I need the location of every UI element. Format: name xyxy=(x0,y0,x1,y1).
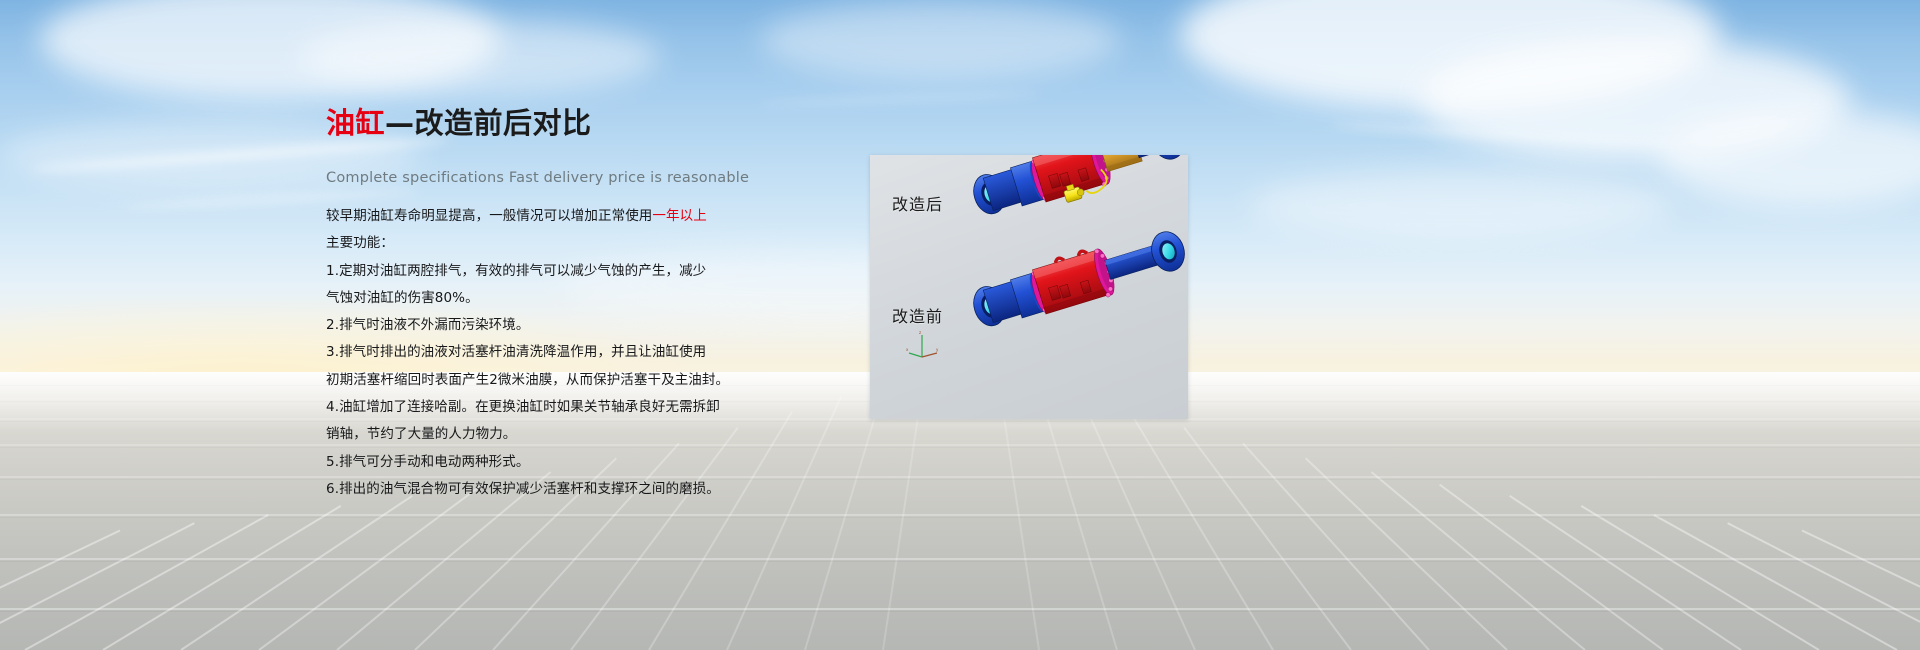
body-line: 5.排气可分手动和电动两种形式。 xyxy=(326,449,756,476)
body-line-text: 气蚀对油缸的伤害80%。 xyxy=(326,290,479,306)
body-line-text: 初期活塞杆缩回时表面产生2微米油膜，从而保护活塞干及主油封。 xyxy=(326,372,729,388)
body-text-block: 较早期油缸寿命明显提高，一般情况可以增加正常使用一年以上主要功能：1.定期对油缸… xyxy=(326,203,756,503)
front-eye-after xyxy=(1147,155,1188,163)
body-line-text: 主要功能： xyxy=(326,235,394,251)
cylinder-before xyxy=(967,222,1188,335)
body-line-highlight: 一年以上 xyxy=(652,208,706,224)
svg-text:x: x xyxy=(906,347,909,352)
body-line-text: 销轴，节约了大量的人力物力。 xyxy=(326,426,516,442)
label-before-modification: 改造前 xyxy=(892,303,943,327)
front-eye-before xyxy=(1147,228,1188,276)
title-rest: —改造前后对比 xyxy=(385,106,592,140)
title-highlight: 油缸 xyxy=(326,106,385,140)
body-line: 气蚀对油缸的伤害80%。 xyxy=(326,285,756,312)
body-line: 1.定期对油缸两腔排气，有效的排气可以减少气蚀的产生，减少 xyxy=(326,258,756,285)
cad-comparison-panel: 改造后 改造前 z x y xyxy=(870,155,1188,419)
label-after-modification: 改造后 xyxy=(892,191,943,215)
banner-content: 油缸—改造前后对比 Complete specifications Fast d… xyxy=(0,0,1920,650)
body-line-text: 1.定期对油缸两腔排气，有效的排气可以减少气蚀的产生，减少 xyxy=(326,263,706,279)
body-line-text: 6.排出的油气混合物可有效保护减少活塞杆和支撑环之间的磨损。 xyxy=(326,481,720,497)
svg-text:y: y xyxy=(936,347,939,352)
svg-text:z: z xyxy=(919,331,921,335)
axis-gizmo-icon: z x y xyxy=(906,331,940,361)
body-line: 销轴，节约了大量的人力物力。 xyxy=(326,421,756,448)
body-line-text: 5.排气可分手动和电动两种形式。 xyxy=(326,454,529,470)
body-line: 3.排气时排出的油液对活塞杆油清洗降温作用，并且让油缸使用 xyxy=(326,339,756,366)
body-line-text: 3.排气时排出的油液对活塞杆油清洗降温作用，并且让油缸使用 xyxy=(326,344,706,360)
body-line-text: 较早期油缸寿命明显提高，一般情况可以增加正常使用 xyxy=(326,208,652,224)
cylinder-after xyxy=(963,155,1188,228)
body-line: 6.排出的油气混合物可有效保护减少活塞杆和支撑环之间的磨损。 xyxy=(326,476,756,503)
body-line: 主要功能： xyxy=(326,230,756,257)
body-line: 较早期油缸寿命明显提高，一般情况可以增加正常使用一年以上 xyxy=(326,203,756,230)
page-title: 油缸—改造前后对比 xyxy=(326,108,592,140)
body-line: 4.油缸增加了连接哈副。在更换油缸时如果关节轴承良好无需拆卸 xyxy=(326,394,756,421)
page-subtitle: Complete specifications Fast delivery pr… xyxy=(326,170,749,186)
body-line: 2.排气时油液不外漏而污染环境。 xyxy=(326,312,756,339)
title-line: 油缸—改造前后对比 xyxy=(326,108,592,140)
body-line-text: 2.排气时油液不外漏而污染环境。 xyxy=(326,317,529,333)
banner-stage: 油缸—改造前后对比 Complete specifications Fast d… xyxy=(0,0,1920,650)
body-line: 初期活塞杆缩回时表面产生2微米油膜，从而保护活塞干及主油封。 xyxy=(326,367,756,394)
body-line-text: 4.油缸增加了连接哈副。在更换油缸时如果关节轴承良好无需拆卸 xyxy=(326,399,720,415)
